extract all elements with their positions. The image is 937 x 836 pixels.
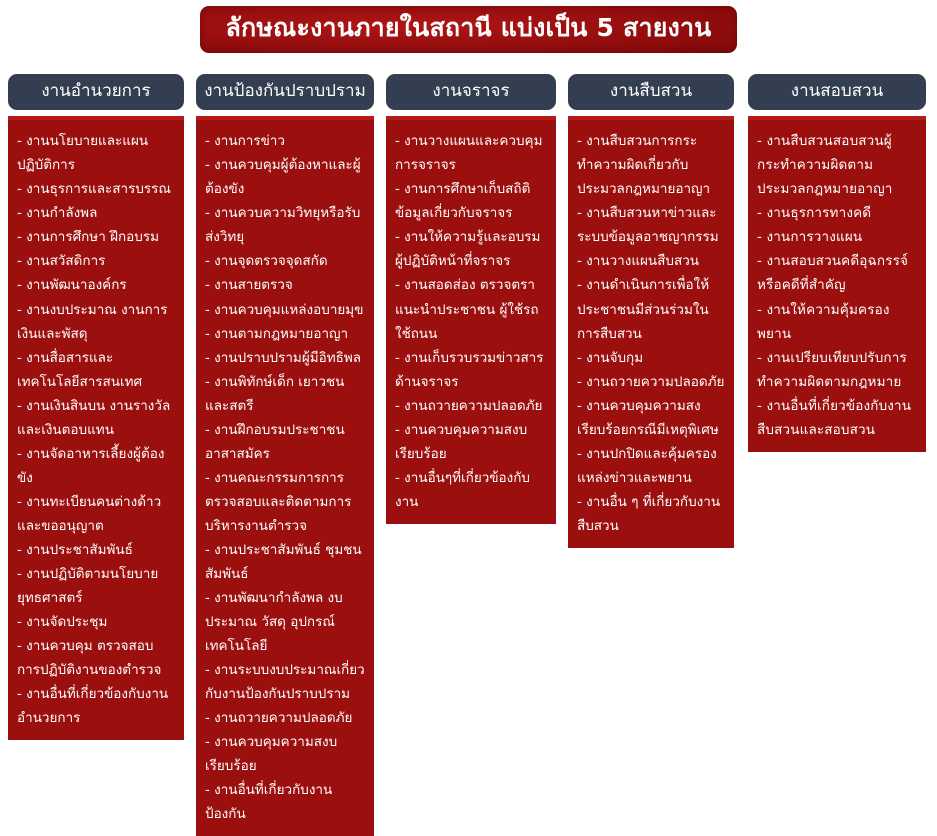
list-item: - งานควบคุมความสงบเรียบร้อย [205, 730, 365, 778]
list-item: - งานงบประมาณ งานการเงินและพัสดุ [17, 298, 175, 346]
column-prevention-suppression-work: งานป้องกันปราบปราม - งานการข่าว - งานควบ… [190, 74, 380, 836]
list-item: - งานอื่นที่เกี่ยวกับงานป้องกัน [205, 778, 365, 826]
list-item: - งานสายตรวจ [205, 273, 365, 297]
list-item: - งานควบคุมความสงเรียบร้อยกรณีมีเหตุพิเศ… [577, 394, 725, 442]
list-item: - งานจัดอาหารเลี้ยงผู้ต้องขัง [17, 442, 175, 490]
list-item: - งานสื่อสารและเทคโนโลยีสารสนเทศ [17, 346, 175, 394]
list-item: - งานวางแผนและควบคุมการจราจร [395, 129, 547, 177]
list-item: - งานธุรการและสารบรรณ [17, 177, 175, 201]
list-item: - งานคณะกรรมการการตรวจสอบและติดตามการบริ… [205, 466, 365, 538]
column-body-4: - งานสืบสวนสอบสวนผู้กระทำความผิดตามประมว… [748, 116, 926, 451]
column-body-3: - งานสืบสวนการกระทำความผิดเกี่ยวกับประมว… [568, 116, 734, 547]
list-item: - งานอื่นๆที่เกี่ยวข้องกับงาน [395, 466, 547, 514]
list-item: - งานพิทักษ์เด็ก เยาวชน และสตรี [205, 370, 365, 418]
column-body-0: - งานนโยบายและแผนปฏิบัติการ - งานธุรการแ… [8, 116, 184, 739]
list-item: - งานตามกฎหมายอาญา [205, 322, 365, 346]
list-item: - งานปฏิบัติตามนโยบายยุทธศาสตร์ [17, 562, 175, 610]
list-item: - งานควบคุมแหล่งอบายมุข [205, 298, 365, 322]
list-item: - งานวางแผนสืบสวน [577, 249, 725, 273]
list-item: - งานสวัสดิการ [17, 249, 175, 273]
list-item: - งานปกปิดและคุ้มครองแหล่งข่าวและพยาน [577, 442, 725, 490]
column-header-0: งานอำนวยการ [8, 74, 184, 110]
list-item: - งานเก็บรวบรวมข่าวสารด้านจราจร [395, 346, 547, 394]
list-item: - งานประชาสัมพันธ์ [17, 538, 175, 562]
list-item: - งานการศึกษาเก็บสถิติข้อมูลเกี่ยวกับจรา… [395, 177, 547, 225]
column-traffic-work: งานจราจร - งานวางแผนและควบคุมการจราจร - … [380, 74, 562, 524]
column-body-1: - งานการข่าว - งานควบคุมผู้ต้องหาและผู้ต… [196, 116, 374, 835]
list-item: - งานพัฒนากำลังพล งบประมาณ วัสดุ อุปกรณ์… [205, 586, 365, 658]
list-item: - งานให้ความคุ้มครองพยาน [757, 298, 917, 346]
column-header-3: งานสืบสวน [568, 74, 734, 110]
list-item: - งานดำเนินการเพื่อให้ประชาชนมีส่วนร่วมใ… [577, 273, 725, 345]
column-body-2: - งานวางแผนและควบคุมการจราจร - งานการศึก… [386, 116, 556, 523]
list-item: - งานสืบสวนการกระทำความผิดเกี่ยวกับประมว… [577, 129, 725, 201]
list-item: - งานปราบปรามผู้มีอิทธิพล [205, 346, 365, 370]
title-banner-wrap: ลักษณะงานภายในสถานี แบ่งเป็น 5 สายงาน [0, 0, 937, 53]
list-item: - งานอื่นที่เกี่ยวข้องกับงานสืบสวนและสอบ… [757, 394, 917, 442]
column-investigation-work: งานสืบสวน - งานสืบสวนการกระทำความผิดเกี่… [562, 74, 740, 548]
list-item: - งานกำลังพล [17, 201, 175, 225]
list-item: - งานนโยบายและแผนปฏิบัติการ [17, 129, 175, 177]
list-item: - งานเปรียบเทียบปรับการทำความผิดตามกฎหมา… [757, 346, 917, 394]
list-item: - งานอื่น ๆ ที่เกี่ยวกับงานสืบสวน [577, 490, 725, 538]
column-header-1: งานป้องกันปราบปราม [196, 74, 374, 110]
list-item: - งานสืบสวนหาข่าวและระบบข้อมูลอาชญากรรม [577, 201, 725, 249]
list-item: - งานทะเบียนคนต่างด้าวและขออนุญาต [17, 490, 175, 538]
column-directing-work: งานอำนวยการ - งานนโยบายและแผนปฏิบัติการ … [0, 74, 190, 740]
list-item: - งานถวายความปลอดภัย [395, 394, 547, 418]
list-item: - งานควบคุมผู้ต้องหาและผู้ต้องขัง [205, 153, 365, 201]
list-item: - งานควบความวิทยุหรือรับส่งวิทยุ [205, 201, 365, 249]
columns-container: งานอำนวยการ - งานนโยบายและแผนปฏิบัติการ … [0, 74, 937, 836]
list-item: - งานควบคุมความสงบเรียบร้อย [395, 418, 547, 466]
list-item: - งานจัดประชุม [17, 610, 175, 634]
list-item: - งานจุดตรวจจุดสกัด [205, 249, 365, 273]
page-title: ลักษณะงานภายในสถานี แบ่งเป็น 5 สายงาน [200, 6, 738, 53]
list-item: - งานอื่นที่เกี่ยวข้องกับงานอำนวยการ [17, 682, 175, 730]
list-item: - งานให้ความรู้และอบรมผู้ปฏิบัติหน้าที่จ… [395, 225, 547, 273]
column-header-2: งานจราจร [386, 74, 556, 110]
list-item: - งานการศึกษา ฝึกอบรม [17, 225, 175, 249]
column-inquiry-work: งานสอบสวน - งานสืบสวนสอบสวนผู้กระทำความผ… [740, 74, 930, 452]
list-item: - งานฝึกอบรมประชาชนอาสาสมัคร [205, 418, 365, 466]
list-item: - งานเงินสินบน งานรางวัลและเงินตอบแทน [17, 394, 175, 442]
list-item: - งานระบบงบประมาณเกี่ยวกับงานป้องกันปราบ… [205, 658, 365, 706]
list-item: - งานจับกุม [577, 346, 725, 370]
list-item: - งานประชาสัมพันธ์ ชุมชนสัมพันธ์ [205, 538, 365, 586]
list-item: - งานสืบสวนสอบสวนผู้กระทำความผิดตามประมว… [757, 129, 917, 201]
list-item: - งานการข่าว [205, 129, 365, 153]
list-item: - งานถวายความปลอดภัย [205, 706, 365, 730]
list-item: - งานสอดส่อง ตรวจตราแนะนำประชาชน ผู้ใช้ร… [395, 273, 547, 345]
list-item: - งานควบคุม ตรวจสอบการปฏิบัติงานของตำรวจ [17, 634, 175, 682]
list-item: - งานการวางแผน [757, 225, 917, 249]
list-item: - งานธุรการทางคดี [757, 201, 917, 225]
column-header-4: งานสอบสวน [748, 74, 926, 110]
list-item: - งานสอบสวนคดีอุฉกรรจ์หรือคดีที่สำคัญ [757, 249, 917, 297]
list-item: - งานถวายความปลอดภัย [577, 370, 725, 394]
list-item: - งานพัฒนาองค์กร [17, 273, 175, 297]
